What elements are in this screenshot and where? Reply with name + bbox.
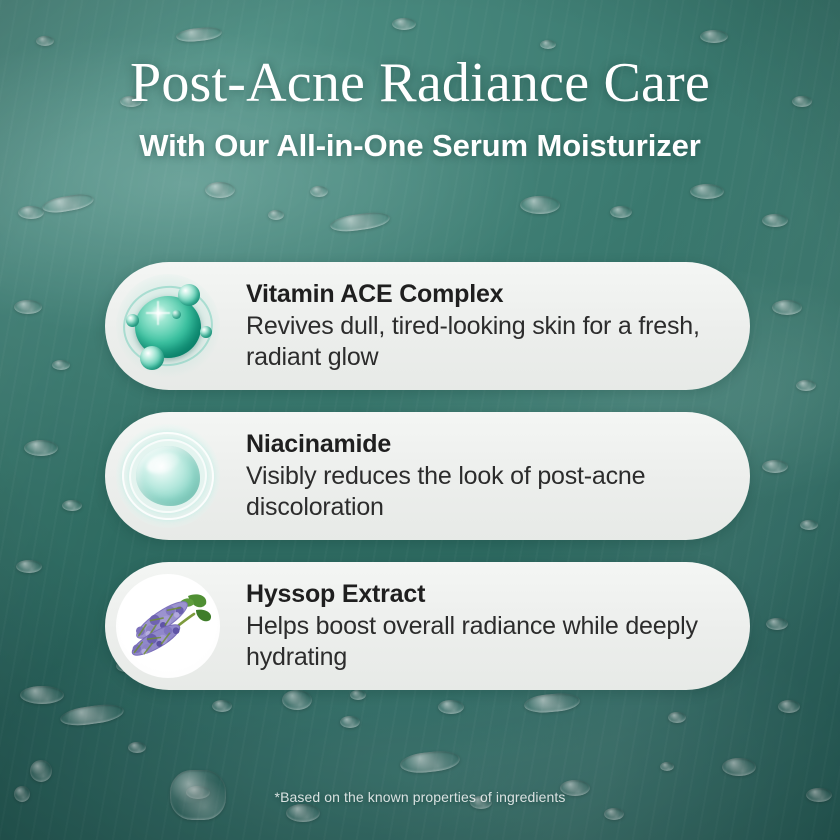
benefit-title: Niacinamide	[246, 429, 724, 459]
benefit-description: Revives dull, tired-looking skin for a f…	[246, 311, 724, 373]
benefit-text: Vitamin ACE Complex Revives dull, tired-…	[224, 279, 750, 373]
benefit-card-vitamin-ace[interactable]: Vitamin ACE Complex Revives dull, tired-…	[105, 262, 750, 390]
vitamin-molecule-icon	[116, 274, 220, 378]
gel-drop-icon	[116, 424, 220, 528]
benefit-title: Hyssop Extract	[246, 579, 724, 609]
page-subheadline: With Our All-in-One Serum Moisturizer	[0, 126, 840, 166]
benefit-text: Niacinamide Visibly reduces the look of …	[224, 429, 750, 523]
benefit-text: Hyssop Extract Helps boost overall radia…	[224, 579, 750, 673]
benefit-description: Visibly reduces the look of post-acne di…	[246, 461, 724, 523]
benefit-icon-wrap	[112, 420, 224, 532]
benefit-title: Vitamin ACE Complex	[246, 279, 724, 309]
benefit-card-niacinamide[interactable]: Niacinamide Visibly reduces the look of …	[105, 412, 750, 540]
benefit-icon-wrap	[112, 570, 224, 682]
benefit-card-hyssop[interactable]: Hyssop Extract Helps boost overall radia…	[105, 562, 750, 690]
marketing-graphic: Post-Acne Radiance Care With Our All-in-…	[0, 0, 840, 840]
benefits-list: Vitamin ACE Complex Revives dull, tired-…	[105, 262, 750, 712]
disclaimer-text: *Based on the known properties of ingred…	[0, 789, 840, 805]
benefit-icon-wrap	[112, 270, 224, 382]
hyssop-flower-icon	[116, 574, 220, 678]
benefit-description: Helps boost overall radiance while deepl…	[246, 611, 724, 673]
page-headline: Post-Acne Radiance Care	[0, 52, 840, 114]
